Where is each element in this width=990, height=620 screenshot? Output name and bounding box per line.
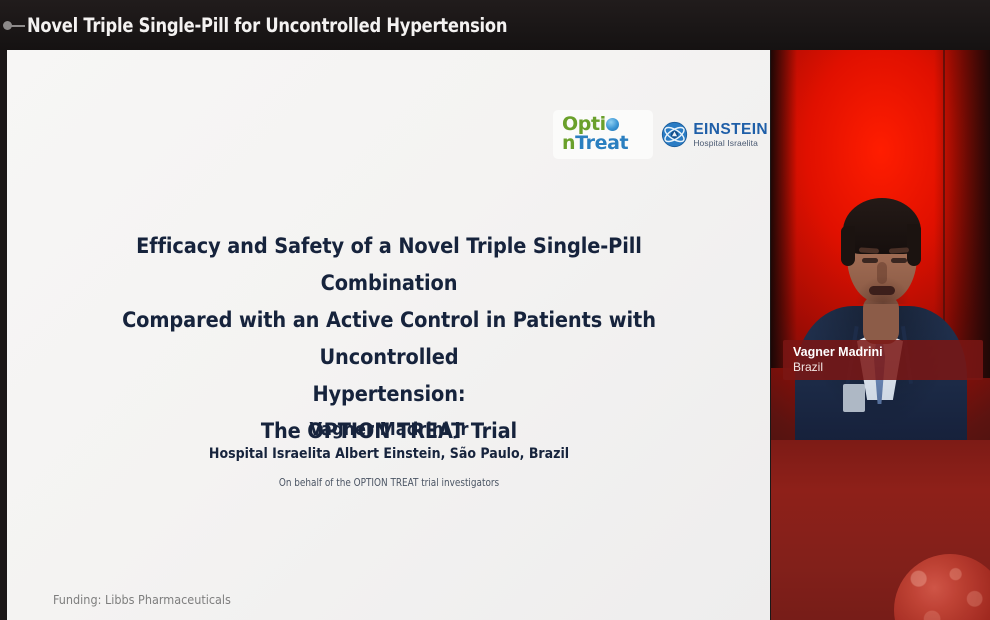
title-bar: Novel Triple Single-Pill for Uncontrolle… xyxy=(0,0,990,50)
session-title: Novel Triple Single-Pill for Uncontrolle… xyxy=(27,14,507,37)
speaker-eye-left xyxy=(862,258,878,263)
backdrop-vignette-left xyxy=(771,48,797,368)
presenter-block: Vagner Madrini Jr Hospital Israelita Alb… xyxy=(89,417,689,494)
einstein-logo: EINSTEIN Hospital Israelita xyxy=(661,121,768,148)
presenter-on-behalf: On behalf of the OPTION TREAT trial inve… xyxy=(107,472,671,494)
handle-line xyxy=(11,25,25,27)
optiontreat-blue: Treat xyxy=(575,132,628,154)
speaker-hair-right xyxy=(907,224,921,266)
slide-title-line-2: Compared with an Active Control in Patie… xyxy=(69,302,709,376)
presenter-name: Vagner Madrini Jr xyxy=(89,417,689,442)
funding-note: Funding: Libbs Pharmaceuticals xyxy=(53,592,231,607)
speaker-eye-right xyxy=(891,258,907,263)
optiontreat-green-2: n xyxy=(562,132,575,154)
speaker-badge xyxy=(843,384,865,412)
droplet-icon xyxy=(606,117,619,132)
nameplate-speaker-name: Vagner Madrini xyxy=(793,345,983,360)
slide-title-line-1: Efficacy and Safety of a Novel Triple Si… xyxy=(69,228,709,302)
speaker-mouth xyxy=(869,286,895,295)
speaker-nose xyxy=(877,262,887,284)
presentation-viewer: Novel Triple Single-Pill for Uncontrolle… xyxy=(0,0,990,620)
slide-title-line-3: Hypertension: xyxy=(69,376,709,413)
speaker-video-panel[interactable]: Vagner Madrini Brazil xyxy=(771,48,990,620)
slide-canvas[interactable]: OptinTreat EINSTEIN Hospital Israelita xyxy=(7,50,770,620)
option-treat-logo: OptinTreat xyxy=(553,110,653,159)
speaker-nameplate: Vagner Madrini Brazil xyxy=(783,340,983,380)
einstein-atom-icon xyxy=(661,121,688,148)
einstein-subtitle: Hospital Israelita xyxy=(693,139,768,148)
speaker-hair-left xyxy=(841,226,855,266)
presenter-affiliation: Hospital Israelita Albert Einstein, São … xyxy=(89,442,689,466)
slide-logos: OptinTreat EINSTEIN Hospital Israelita xyxy=(553,111,768,158)
einstein-name: EINSTEIN xyxy=(693,122,768,138)
nameplate-country: Brazil xyxy=(793,360,983,375)
drag-handle-dot-icon[interactable] xyxy=(3,20,25,30)
